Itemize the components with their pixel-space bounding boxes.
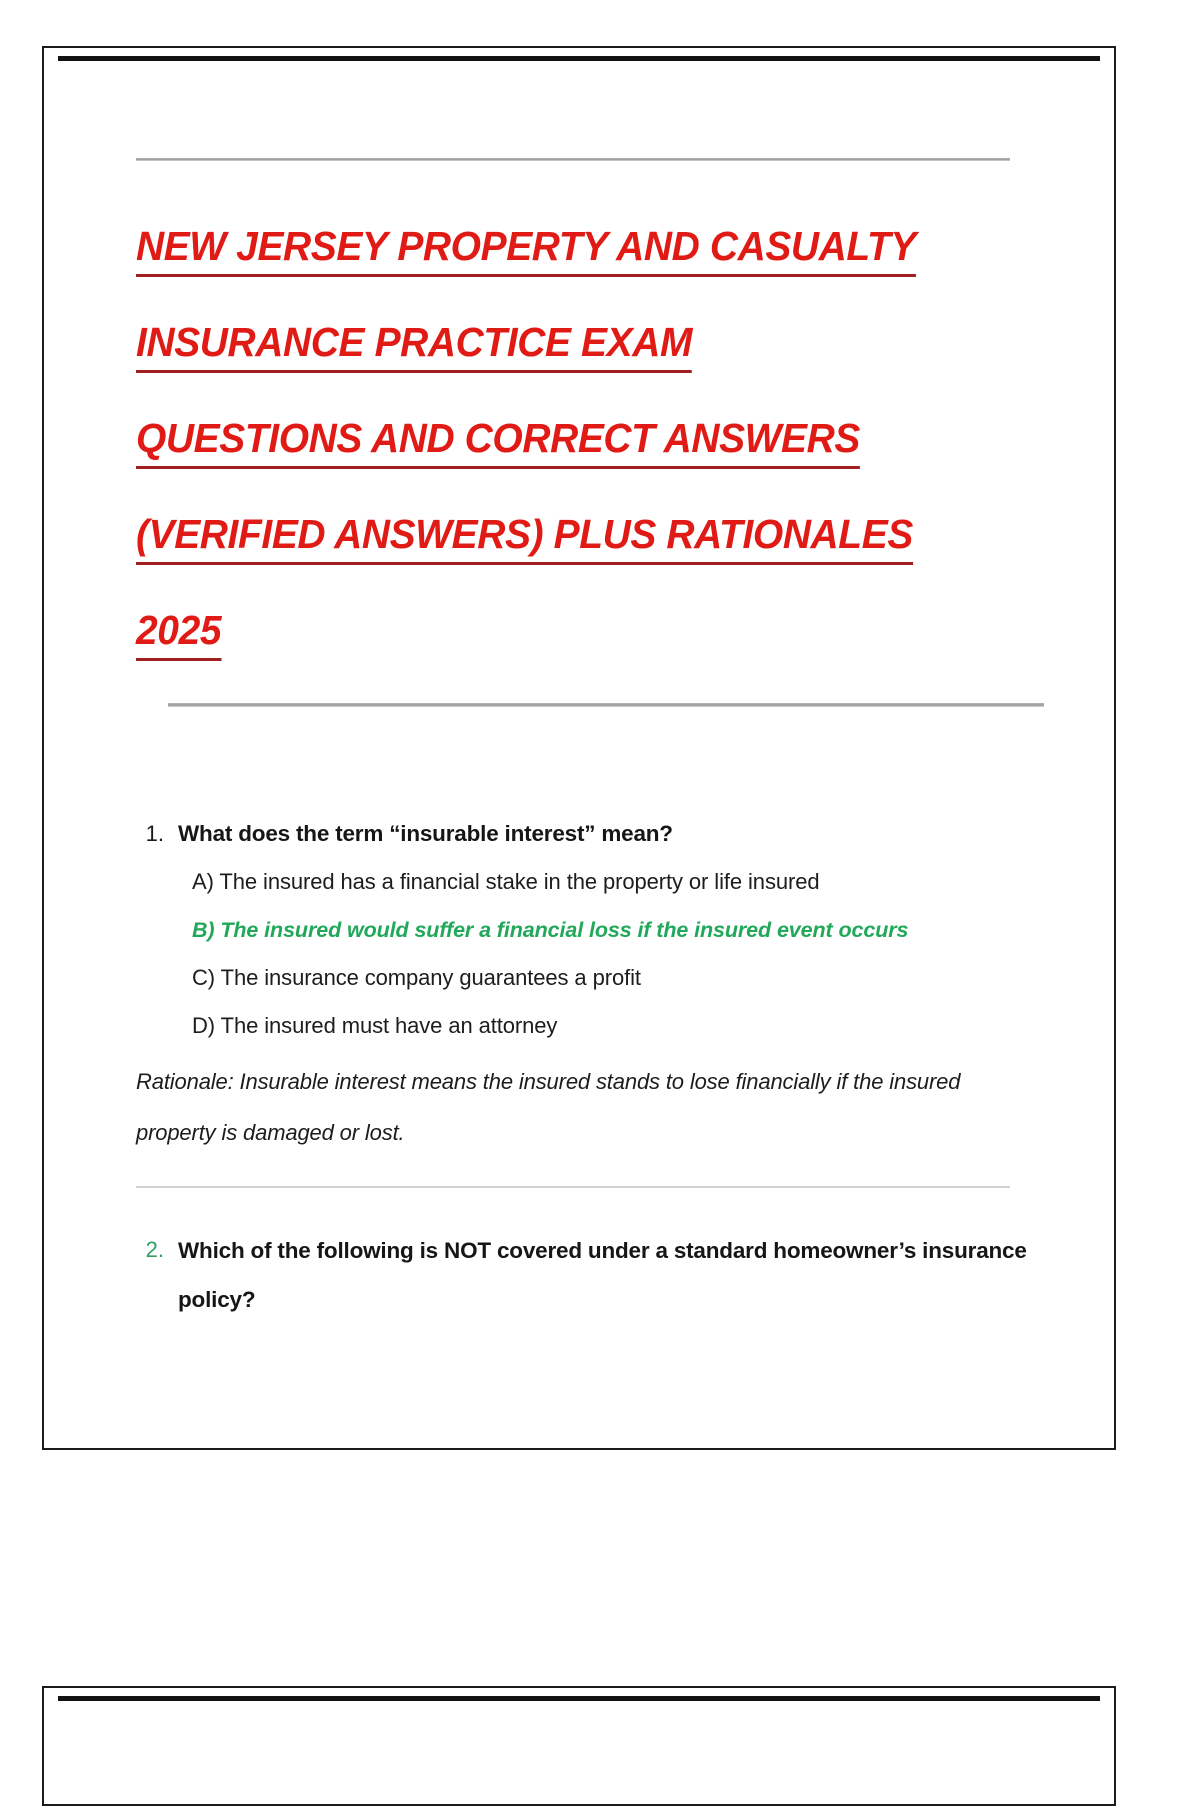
question-2-text: Which of the following is NOT covered un… (178, 1226, 1036, 1324)
title-line-5: 2025 (136, 582, 991, 678)
page-title: NEW JERSEY PROPERTY AND CASUALTY INSURAN… (136, 198, 1036, 678)
question-1-number: 1. (136, 810, 178, 858)
question-1-options: A) The insured has a financial stake in … (192, 858, 1036, 1050)
question-1-rationale: Rationale: Insurable interest means the … (136, 1056, 1016, 1158)
option-c[interactable]: C) The insurance company guarantees a pr… (192, 954, 1036, 1002)
title-line-1-text: NEW JERSEY PROPERTY AND CASUALTY (136, 223, 916, 277)
title-line-3-text: QUESTIONS AND CORRECT ANSWERS (136, 415, 860, 469)
title-divider-rule (168, 703, 1044, 707)
question-2-number: 2. (136, 1226, 178, 1274)
option-b[interactable]: B) The insured would suffer a financial … (192, 906, 1036, 954)
header-divider-rule (136, 158, 1010, 161)
question-1-heading: 1. What does the term “insurable interes… (136, 810, 1036, 858)
document-page-2 (42, 1686, 1116, 1806)
page-2-top-rule (58, 1696, 1100, 1701)
option-d[interactable]: D) The insured must have an attorney (192, 1002, 1036, 1050)
page-top-rule (58, 56, 1100, 61)
title-line-1: NEW JERSEY PROPERTY AND CASUALTY (136, 198, 991, 294)
title-line-2: INSURANCE PRACTICE EXAM (136, 294, 991, 390)
question-separator-rule (136, 1186, 1010, 1188)
title-line-5-text: 2025 (136, 607, 221, 661)
title-line-4: (VERIFIED ANSWERS) PLUS RATIONALES (136, 486, 991, 582)
option-a[interactable]: A) The insured has a financial stake in … (192, 858, 1036, 906)
title-line-3: QUESTIONS AND CORRECT ANSWERS (136, 390, 991, 486)
document-page-1: NEW JERSEY PROPERTY AND CASUALTY INSURAN… (42, 46, 1116, 1450)
title-line-2-text: INSURANCE PRACTICE EXAM (136, 319, 692, 373)
question-block-1: 1. What does the term “insurable interes… (136, 810, 1036, 1050)
question-1-text: What does the term “insurable interest” … (178, 810, 673, 858)
question-block-2: 2. Which of the following is NOT covered… (136, 1226, 1036, 1324)
title-line-4-text: (VERIFIED ANSWERS) PLUS RATIONALES (136, 511, 913, 565)
question-2-heading: 2. Which of the following is NOT covered… (136, 1226, 1036, 1324)
